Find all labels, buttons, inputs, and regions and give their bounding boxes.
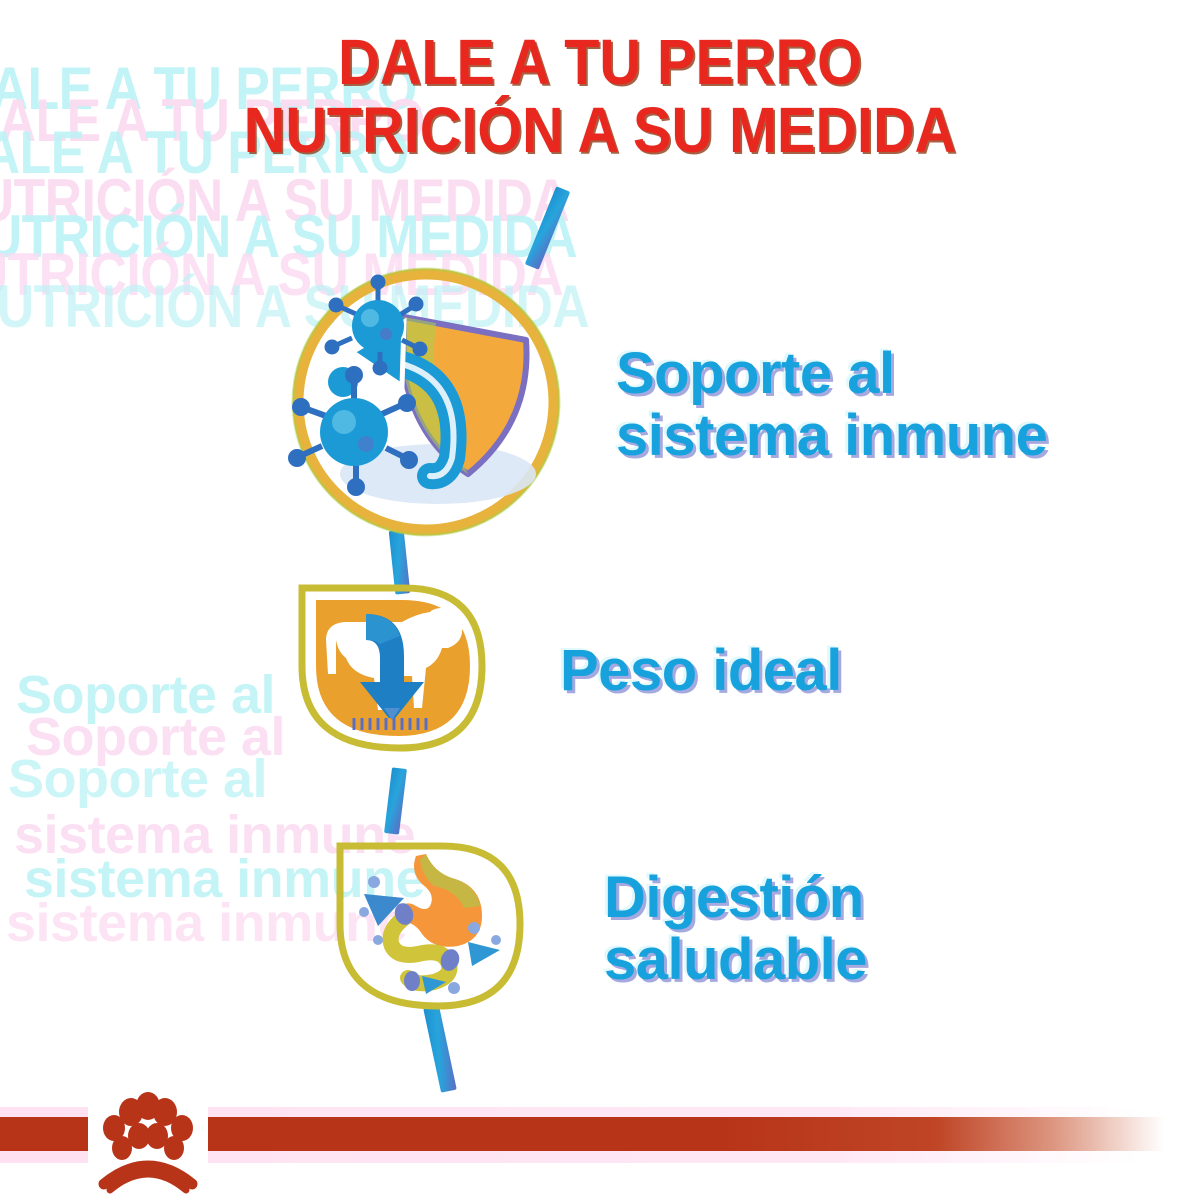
benefit-label-digestion-line1: Digestión bbox=[604, 867, 867, 929]
title-line-2: NUTRICIÓN A SU MEDIDA bbox=[60, 96, 1140, 164]
benefit-label-weight-line1: Peso ideal bbox=[560, 640, 842, 702]
benefit-row-digestion[interactable]: Digestión saludable bbox=[330, 836, 867, 1021]
connector-dash-1 bbox=[525, 186, 570, 270]
ghost-echo-label-1b: Soporte al bbox=[26, 706, 285, 768]
ghost-echo-label-1: Soporte al bbox=[16, 664, 275, 726]
digestive-tract-icon bbox=[330, 836, 530, 1021]
benefit-label-immune-line2: sistema inmune bbox=[616, 405, 1047, 467]
benefit-row-immune[interactable]: Soporte al sistema inmune bbox=[286, 262, 1047, 547]
benefit-row-weight[interactable]: Peso ideal bbox=[292, 578, 842, 763]
benefit-label-digestion-line2: saludable bbox=[604, 929, 867, 991]
page-title: DALE A TU PERRO NUTRICIÓN A SU MEDIDA bbox=[0, 28, 1200, 164]
shield-germs-icon bbox=[286, 262, 566, 547]
title-line-1: DALE A TU PERRO bbox=[60, 28, 1140, 96]
dog-scale-icon bbox=[292, 578, 492, 763]
benefit-label-immune-line1: Soporte al bbox=[616, 343, 1047, 405]
poster-canvas: DALE A TU PERRO DALE A TU PERRO DALE A T… bbox=[0, 0, 1200, 1200]
connector-dash-3 bbox=[384, 767, 407, 834]
ghost-echo-title-2b: NUTRICIÓN A SU MEDIDA bbox=[0, 206, 577, 268]
ghost-echo-label-1c: Soporte al bbox=[8, 748, 267, 810]
royal-canin-crown-icon bbox=[88, 1092, 208, 1196]
ghost-echo-title-2: NUTRICIÓN A SU MEDIDA bbox=[0, 170, 569, 232]
